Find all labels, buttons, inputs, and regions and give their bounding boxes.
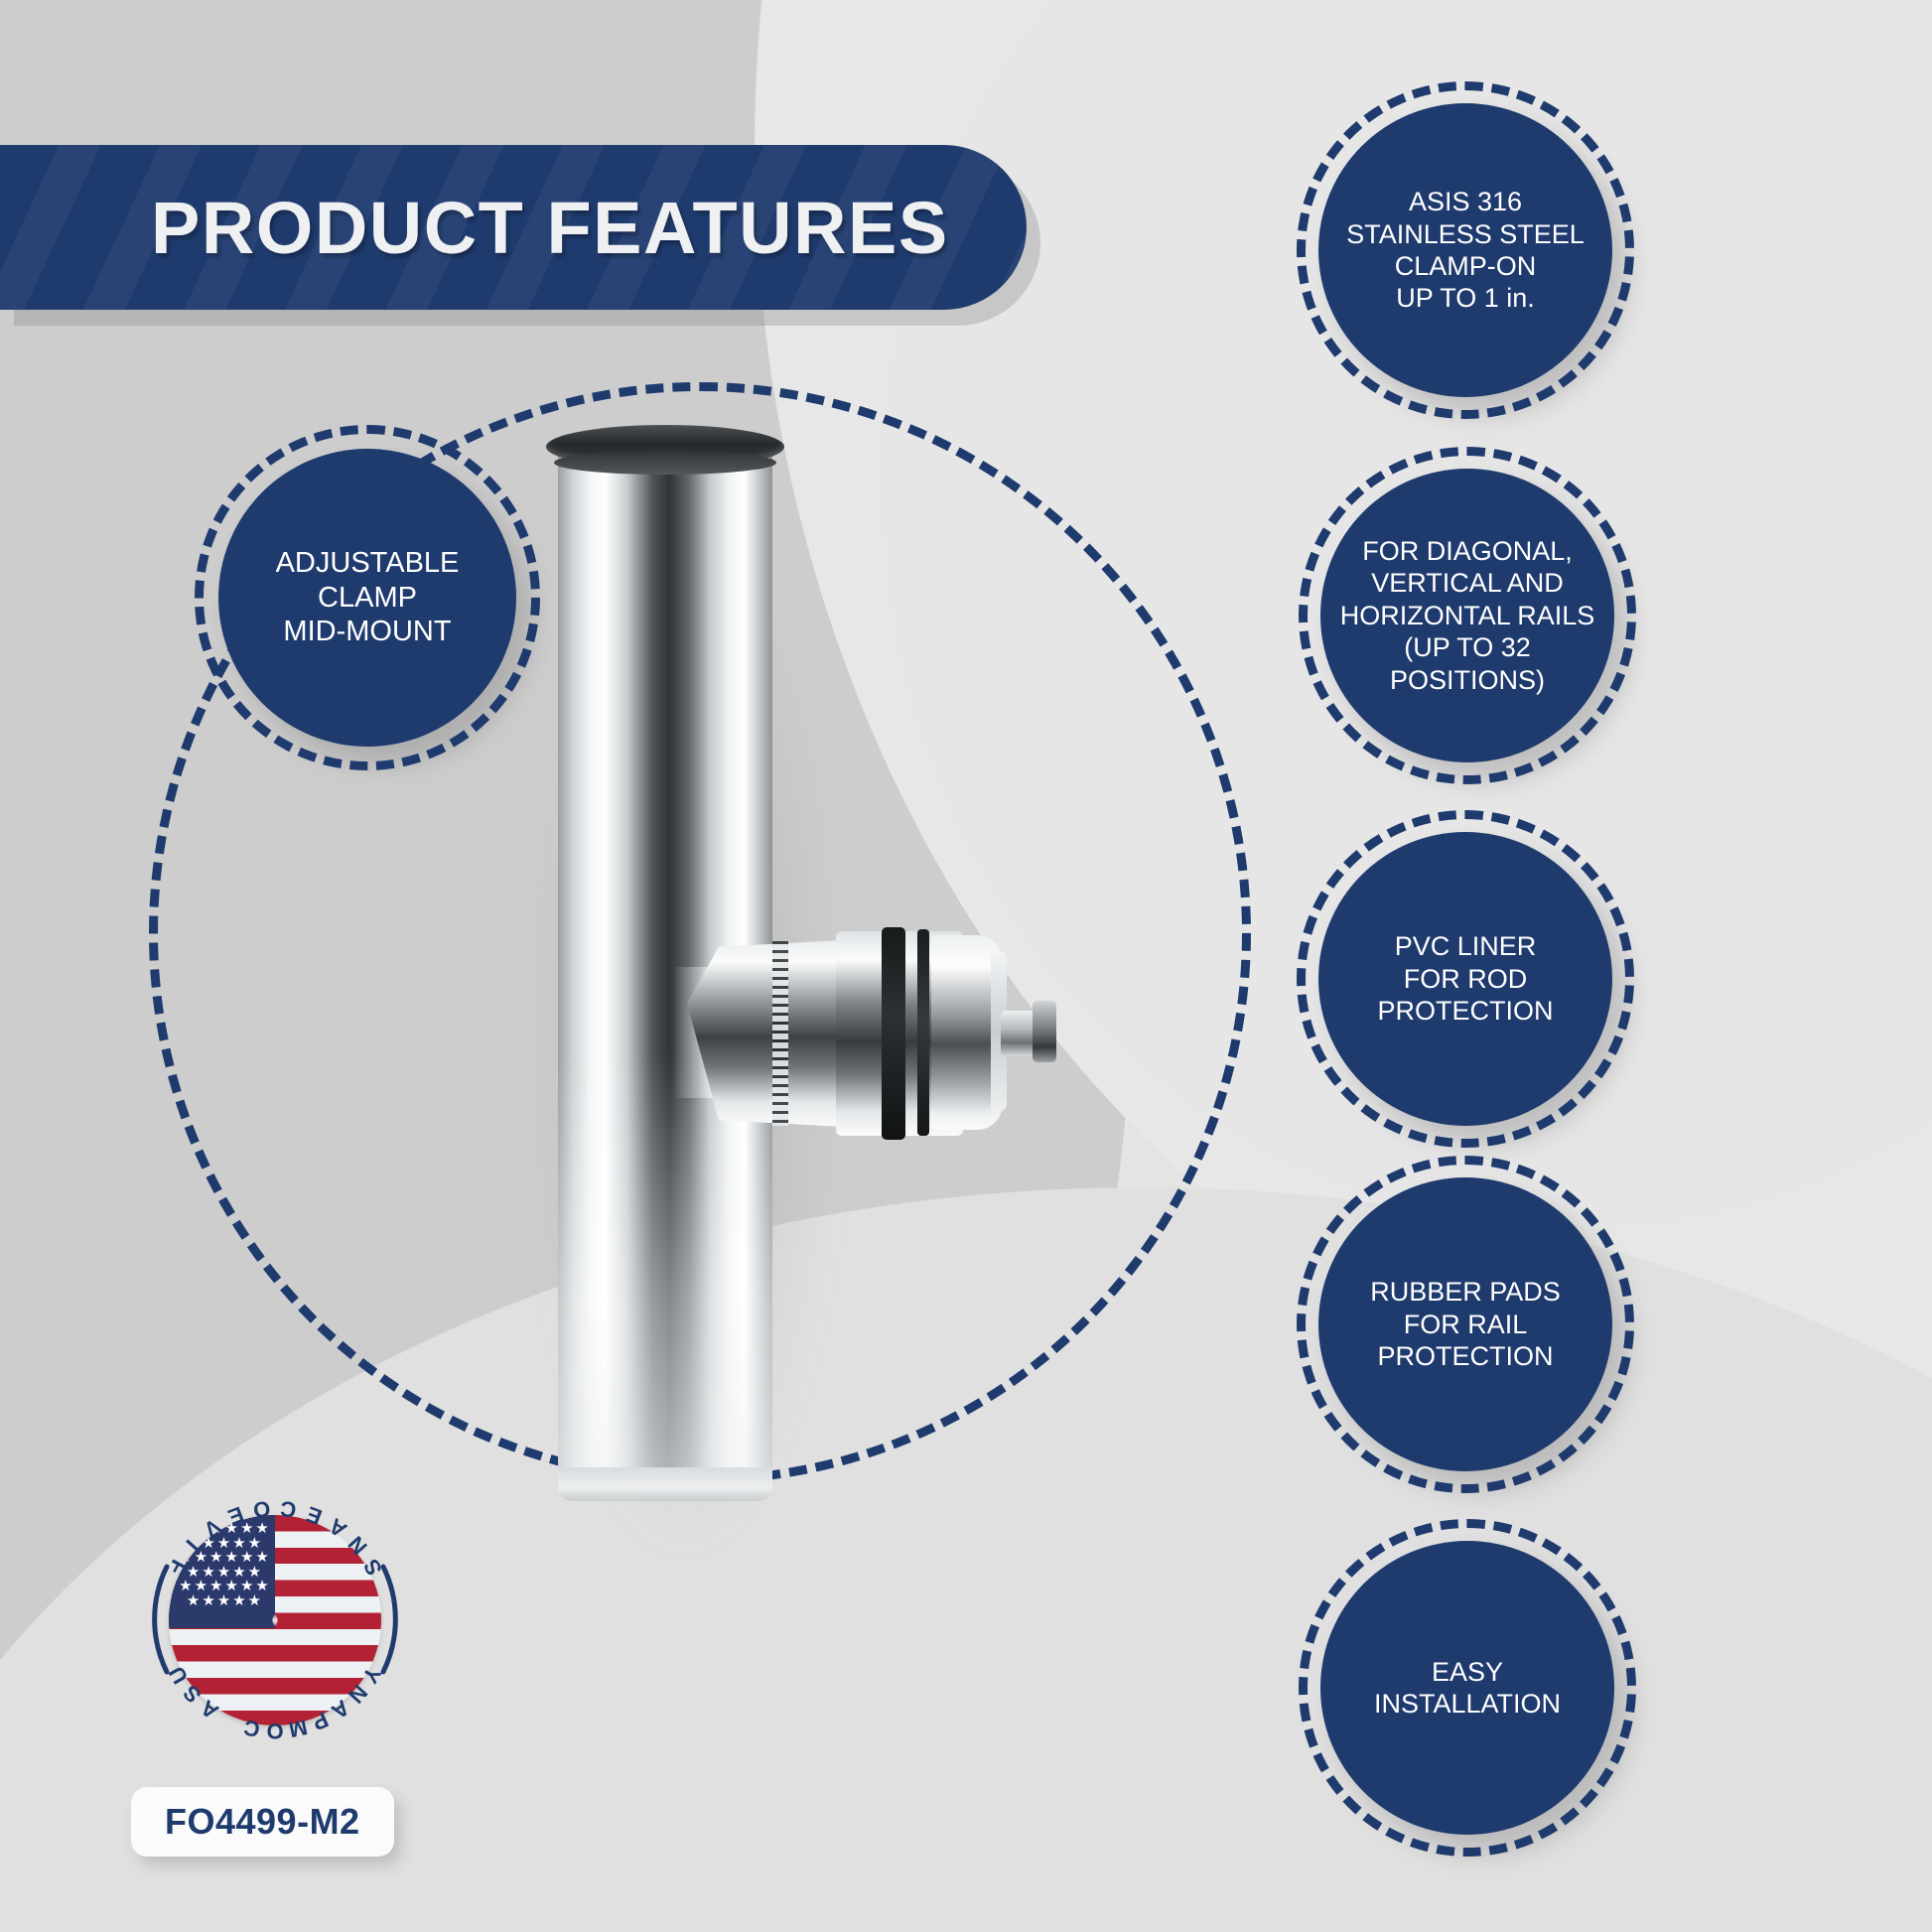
badge-outline-arcs [145,1489,405,1749]
header-banner: PRODUCT FEATURES [0,145,1027,310]
clamp-rubber-pad-secondary [917,929,929,1136]
feature-line: CLAMP [276,581,460,616]
feature-line: PROTECTION [1370,1340,1561,1372]
feature-line: (UP TO 32 [1340,631,1595,663]
feature-line: PVC LINER [1377,930,1553,962]
feature-line: POSITIONS) [1340,664,1595,696]
infographic-canvas: PRODUCT FEATURES ADJUSTABLE CLAMP [0,0,1932,1932]
feature-bubble-pvc-liner[interactable]: PVC LINER FOR ROD PROTECTION [1318,832,1612,1126]
feature-bubble-label: EASY INSTALLATION [1356,1656,1579,1721]
clamp-bolt-head [1033,1001,1056,1062]
feature-bubble-label: ADJUSTABLE CLAMP MID-MOUNT [258,546,478,649]
feature-line: EASY [1374,1656,1561,1688]
feature-bubble-easy-installation[interactable]: EASY INSTALLATION [1320,1541,1614,1835]
feature-line: PROTECTION [1377,995,1553,1027]
feature-line: INSTALLATION [1374,1688,1561,1720]
feature-line: FOR ROD [1377,963,1553,995]
feature-line: ADJUSTABLE [276,546,460,581]
clamp-rubber-pad [882,927,905,1140]
feature-line: UP TO 1 in. [1346,282,1585,314]
tube-cap-lip [554,451,776,475]
clamp-assembly [687,913,1044,1152]
feature-bubble-label: RUBBER PADS FOR RAIL PROTECTION [1352,1276,1579,1372]
feature-bubble-material[interactable]: ASIS 316 STAINLESS STEEL CLAMP-ON UP TO … [1318,103,1612,397]
tube-bottom-edge [558,1467,772,1501]
usa-company-badge: ★★★★★★★★★★★★★★★★★★★★★★★★★★★★★★★★★ FIVEOC… [145,1489,405,1749]
page-title: PRODUCT FEATURES [151,186,949,270]
feature-line: ASIS 316 [1346,186,1585,217]
feature-line: FOR DIAGONAL, [1340,535,1595,567]
clamp-serrated-teeth [772,941,788,1126]
feature-bubble-label: PVC LINER FOR ROD PROTECTION [1359,930,1571,1027]
feature-line: FOR RAIL [1370,1309,1561,1340]
feature-line: MID-MOUNT [276,615,460,649]
feature-line: HORIZONTAL RAILS [1340,600,1595,631]
feature-line: STAINLESS STEEL [1346,218,1585,250]
sku-badge: FO4499-M2 [131,1787,394,1857]
feature-bubble-label: ASIS 316 STAINLESS STEEL CLAMP-ON UP TO … [1328,186,1602,315]
feature-bubble-rubber-pads[interactable]: RUBBER PADS FOR RAIL PROTECTION [1318,1177,1612,1471]
feature-line: RUBBER PADS [1370,1276,1561,1308]
product-image [516,417,1072,1588]
feature-line: VERTICAL AND [1340,567,1595,599]
feature-bubble-rail-orientation[interactable]: FOR DIAGONAL, VERTICAL AND HORIZONTAL RA… [1320,469,1614,762]
feature-bubble-label: FOR DIAGONAL, VERTICAL AND HORIZONTAL RA… [1322,535,1613,696]
feature-line: CLAMP-ON [1346,250,1585,282]
